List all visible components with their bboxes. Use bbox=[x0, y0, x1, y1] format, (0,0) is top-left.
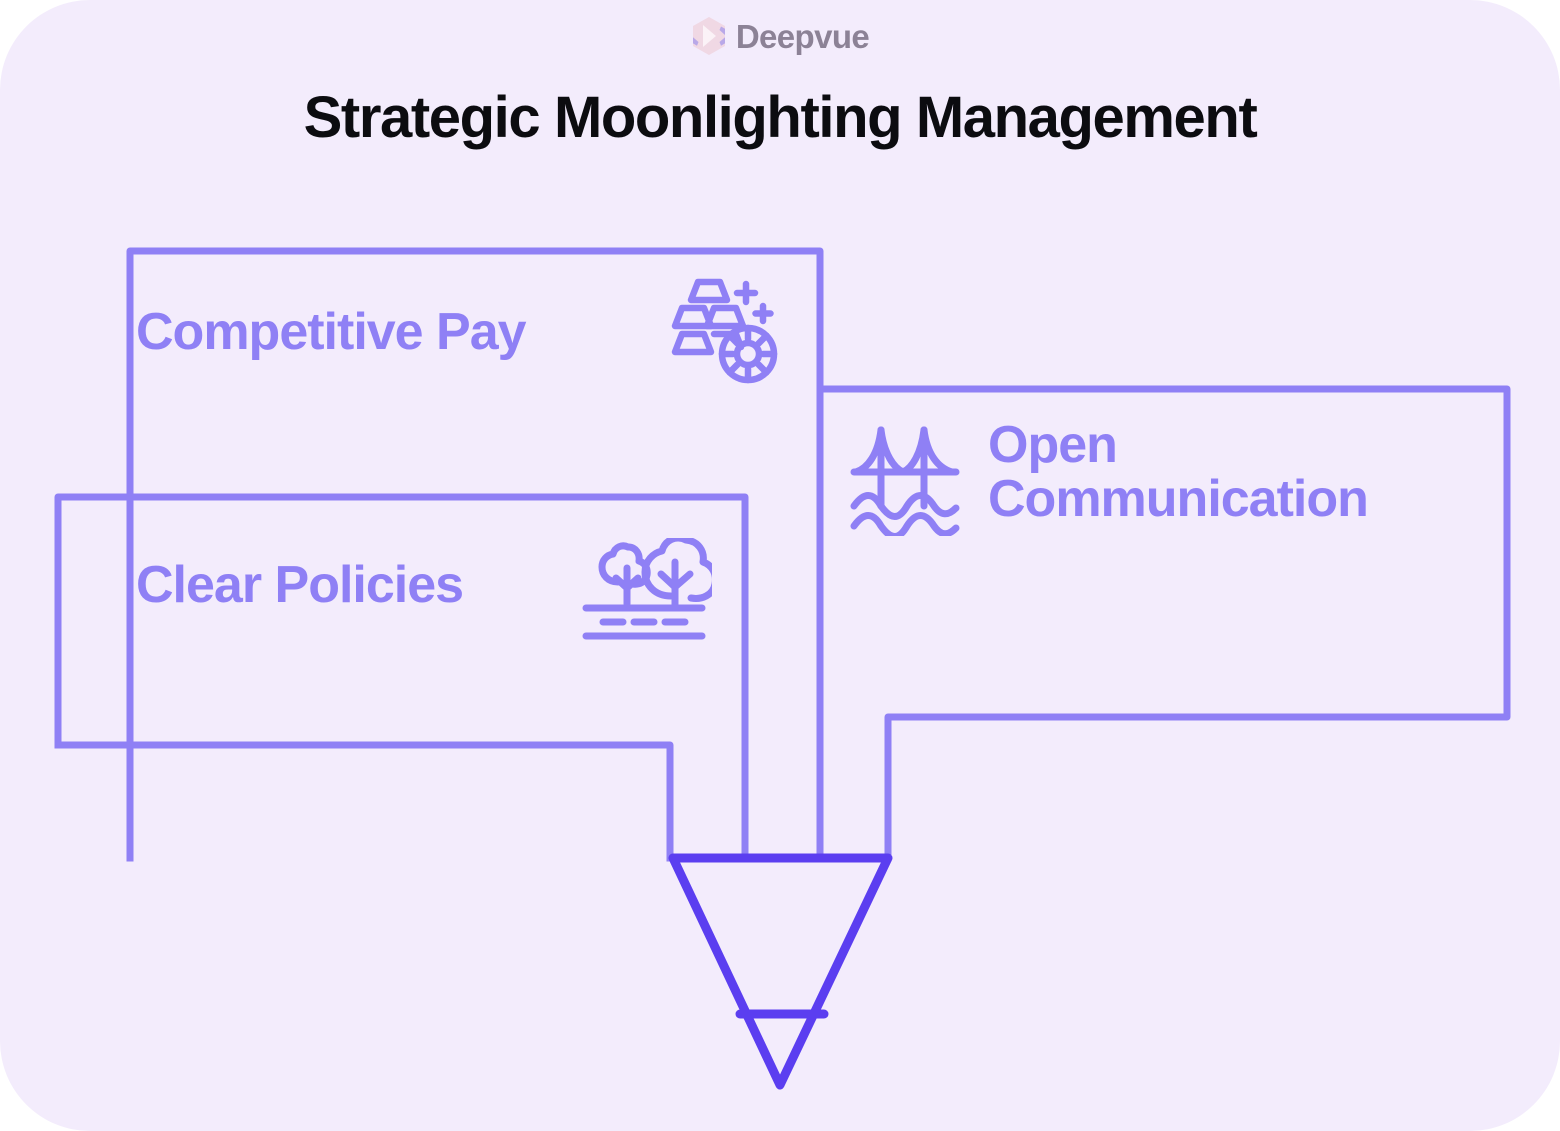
trees-park-icon bbox=[572, 538, 712, 648]
bridge-water-icon bbox=[848, 424, 962, 536]
box-outline-clear-policies-lower[interactable] bbox=[58, 745, 670, 858]
node-label-competitive-pay: Competitive Pay bbox=[136, 305, 526, 359]
infographic-canvas: Deepvue Strategic Moonlighting Managemen… bbox=[0, 0, 1560, 1131]
node-label-clear-policies: Clear Policies bbox=[136, 558, 463, 612]
gold-bars-coin-icon bbox=[668, 276, 784, 386]
funnel-triangle[interactable] bbox=[673, 858, 888, 1085]
node-label-open-communication: Open Communication bbox=[988, 418, 1368, 526]
